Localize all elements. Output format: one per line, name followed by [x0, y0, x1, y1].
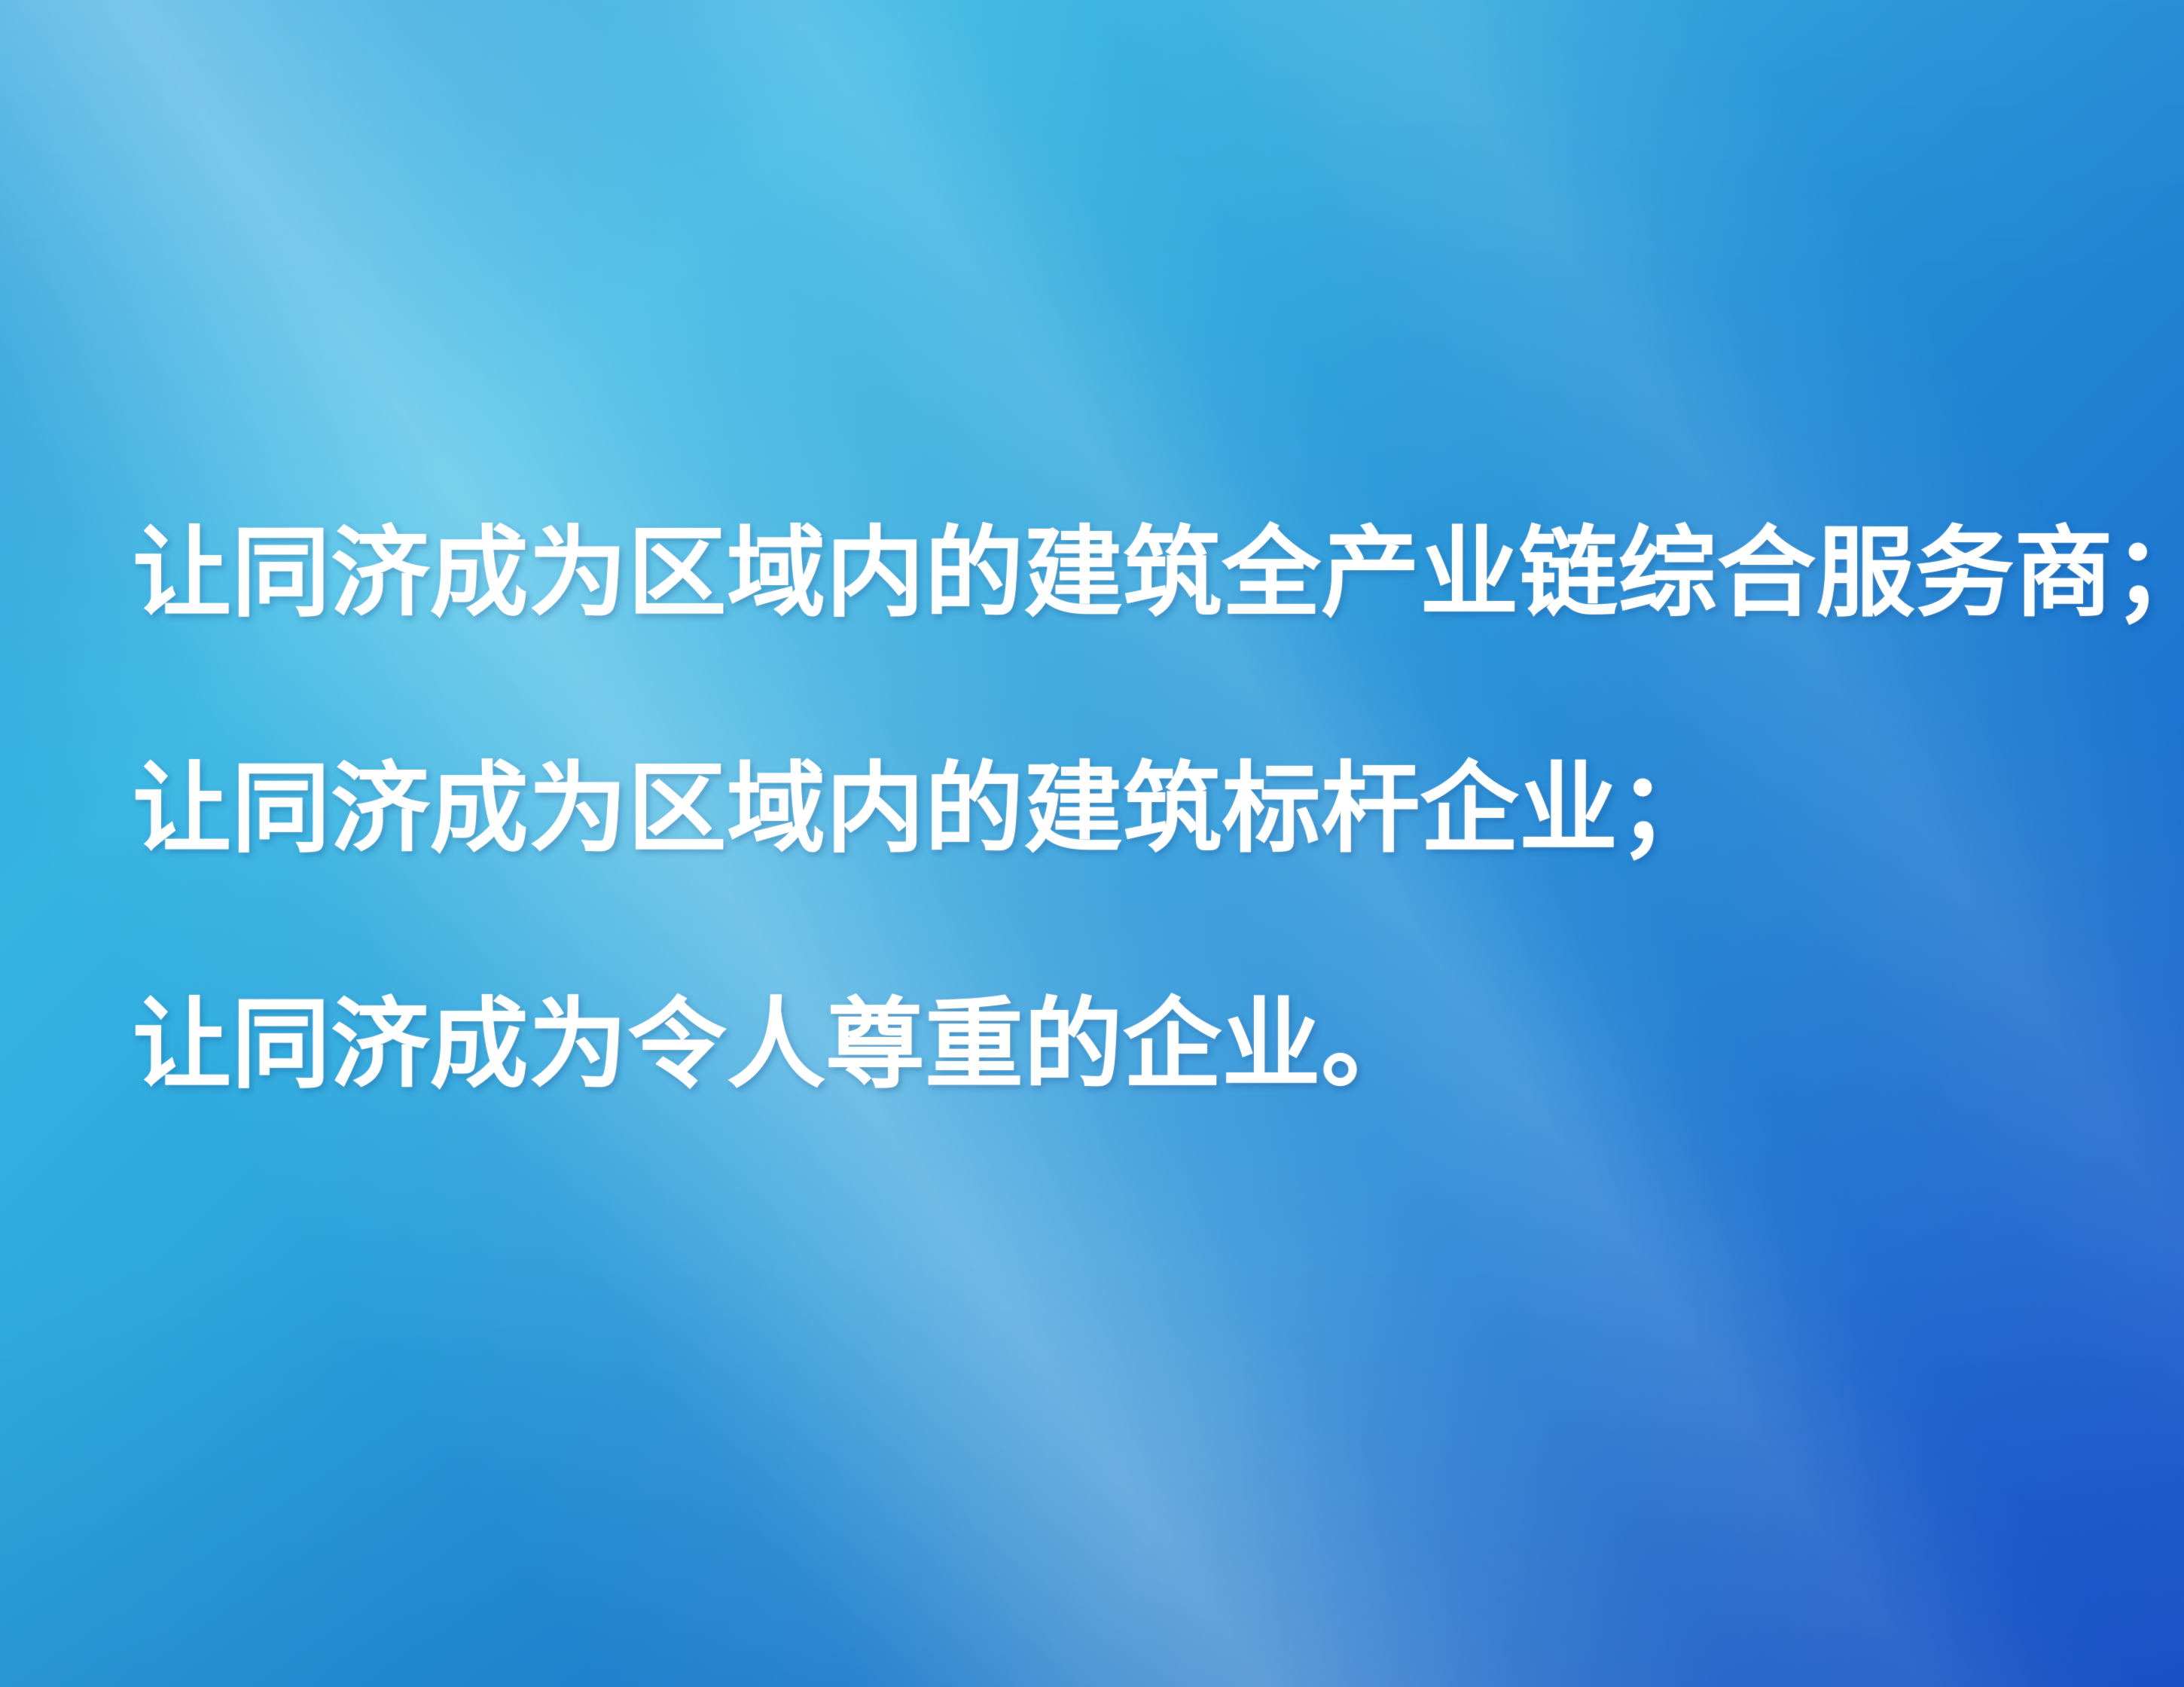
slide-canvas: 让同济成为区域内的建筑全产业链综合服务商； 让同济成为区域内的建筑标杆企业； 让… [0, 0, 2184, 1687]
slide-line-1: 让同济成为区域内的建筑全产业链综合服务商； [133, 455, 2121, 691]
slide-line-3: 让同济成为令人尊重的企业。 [133, 926, 2121, 1162]
slide-text-block: 让同济成为区域内的建筑全产业链综合服务商； 让同济成为区域内的建筑标杆企业； 让… [133, 455, 2121, 1162]
slide-line-2: 让同济成为区域内的建筑标杆企业； [133, 691, 2121, 926]
